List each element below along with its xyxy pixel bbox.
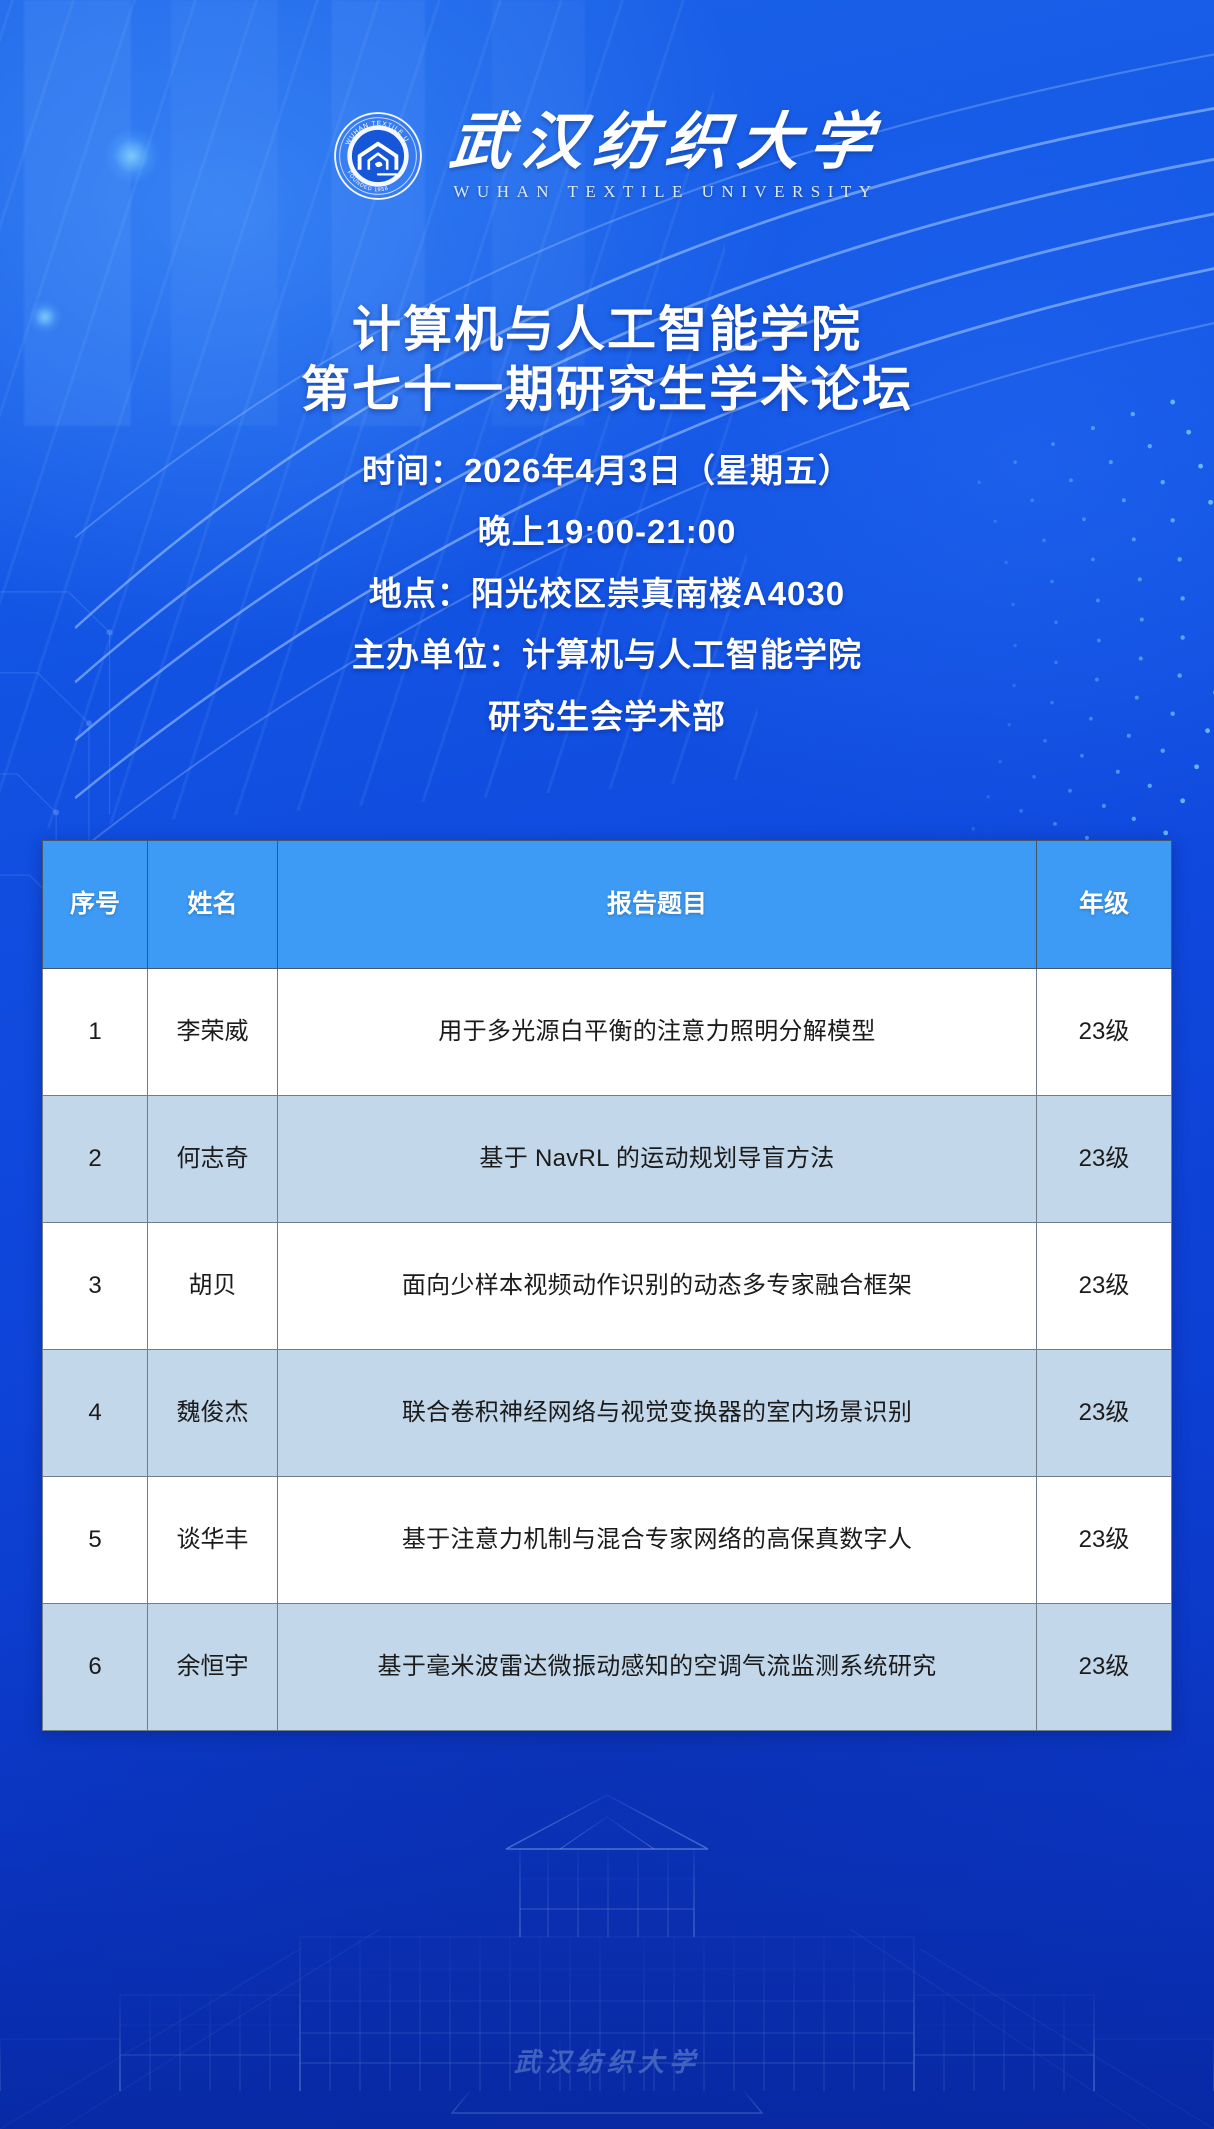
cell-topic: 用于多光源白平衡的注意力照明分解模型	[278, 969, 1037, 1096]
agenda-table-wrapper: 序号 姓名 报告题目 年级 1 李荣威 用于多光源白平衡的注意力照明分解模型 2…	[42, 840, 1172, 1731]
cell-topic: 基于注意力机制与混合专家网络的高保真数字人	[278, 1477, 1037, 1604]
cell-index: 4	[43, 1350, 148, 1477]
column-header-grade: 年级	[1037, 841, 1172, 969]
event-organizer: 主办单位：计算机与人工智能学院	[0, 624, 1214, 685]
table-row: 2 何志奇 基于 NavRL 的运动规划导盲方法 23级	[43, 1096, 1172, 1223]
event-date: 时间：2026年4月3日（星期五）	[0, 440, 1214, 501]
cell-index: 1	[43, 969, 148, 1096]
cell-grade: 23级	[1037, 1350, 1172, 1477]
cell-grade: 23级	[1037, 1096, 1172, 1223]
column-header-topic: 报告题目	[278, 841, 1037, 969]
cell-index: 2	[43, 1096, 148, 1223]
column-header-name: 姓名	[148, 841, 278, 969]
table-row: 3 胡贝 面向少样本视频动作识别的动态多专家融合框架 23级	[43, 1223, 1172, 1350]
cell-topic: 联合卷积神经网络与视觉变换器的室内场景识别	[278, 1350, 1037, 1477]
cell-topic: 面向少样本视频动作识别的动态多专家融合框架	[278, 1223, 1037, 1350]
title-line-2: 第七十一期研究生学术论坛	[0, 360, 1214, 420]
event-info-block: 时间：2026年4月3日（星期五） 晚上19:00-21:00 地点：阳光校区崇…	[0, 440, 1214, 747]
cell-topic: 基于 NavRL 的运动规划导盲方法	[278, 1096, 1037, 1223]
event-organizer-dept: 研究生会学术部	[0, 686, 1214, 747]
column-header-index: 序号	[43, 841, 148, 969]
poster-title-block: 计算机与人工智能学院 第七十一期研究生学术论坛	[0, 300, 1214, 421]
table-row: 5 谈华丰 基于注意力机制与混合专家网络的高保真数字人 23级	[43, 1477, 1172, 1604]
university-name-cn: 武汉纺织大学	[447, 112, 886, 174]
table-row: 1 李荣威 用于多光源白平衡的注意力照明分解模型 23级	[43, 969, 1172, 1096]
cell-index: 3	[43, 1223, 148, 1350]
cell-name: 李荣威	[148, 969, 278, 1096]
cell-grade: 23级	[1037, 969, 1172, 1096]
cell-name: 余恒宇	[148, 1604, 278, 1731]
cell-index: 6	[43, 1604, 148, 1731]
cell-name: 何志奇	[148, 1096, 278, 1223]
university-wordmark: 武汉纺织大学 WUHAN TEXTILE UNIVERSITY	[450, 112, 882, 200]
cell-name: 魏俊杰	[148, 1350, 278, 1477]
poster-canvas: 武汉纺织大学	[0, 0, 1214, 2129]
table-row: 6 余恒宇 基于毫米波雷达微振动感知的空调气流监测系统研究 23级	[43, 1604, 1172, 1731]
cell-name: 胡贝	[148, 1223, 278, 1350]
cell-grade: 23级	[1037, 1604, 1172, 1731]
cell-name: 谈华丰	[148, 1477, 278, 1604]
poster-content: WUHAN TEXTILE U FOUNDED 1958 武汉纺织大学 WUHA…	[0, 0, 1214, 2129]
university-logo-row: WUHAN TEXTILE U FOUNDED 1958 武汉纺织大学 WUHA…	[0, 110, 1214, 202]
table-header-row: 序号 姓名 报告题目 年级	[43, 841, 1172, 969]
event-time-range: 晚上19:00-21:00	[0, 501, 1214, 562]
agenda-table-body: 1 李荣威 用于多光源白平衡的注意力照明分解模型 23级 2 何志奇 基于 Na…	[43, 969, 1172, 1731]
event-location: 地点：阳光校区崇真南楼A4030	[0, 563, 1214, 624]
agenda-table: 序号 姓名 报告题目 年级 1 李荣威 用于多光源白平衡的注意力照明分解模型 2…	[42, 840, 1172, 1731]
university-name-en: WUHAN TEXTILE UNIVERSITY	[453, 183, 878, 200]
university-seal-icon: WUHAN TEXTILE U FOUNDED 1958	[332, 110, 424, 202]
table-row: 4 魏俊杰 联合卷积神经网络与视觉变换器的室内场景识别 23级	[43, 1350, 1172, 1477]
cell-grade: 23级	[1037, 1477, 1172, 1604]
title-line-1: 计算机与人工智能学院	[0, 300, 1214, 360]
cell-topic: 基于毫米波雷达微振动感知的空调气流监测系统研究	[278, 1604, 1037, 1731]
cell-index: 5	[43, 1477, 148, 1604]
cell-grade: 23级	[1037, 1223, 1172, 1350]
